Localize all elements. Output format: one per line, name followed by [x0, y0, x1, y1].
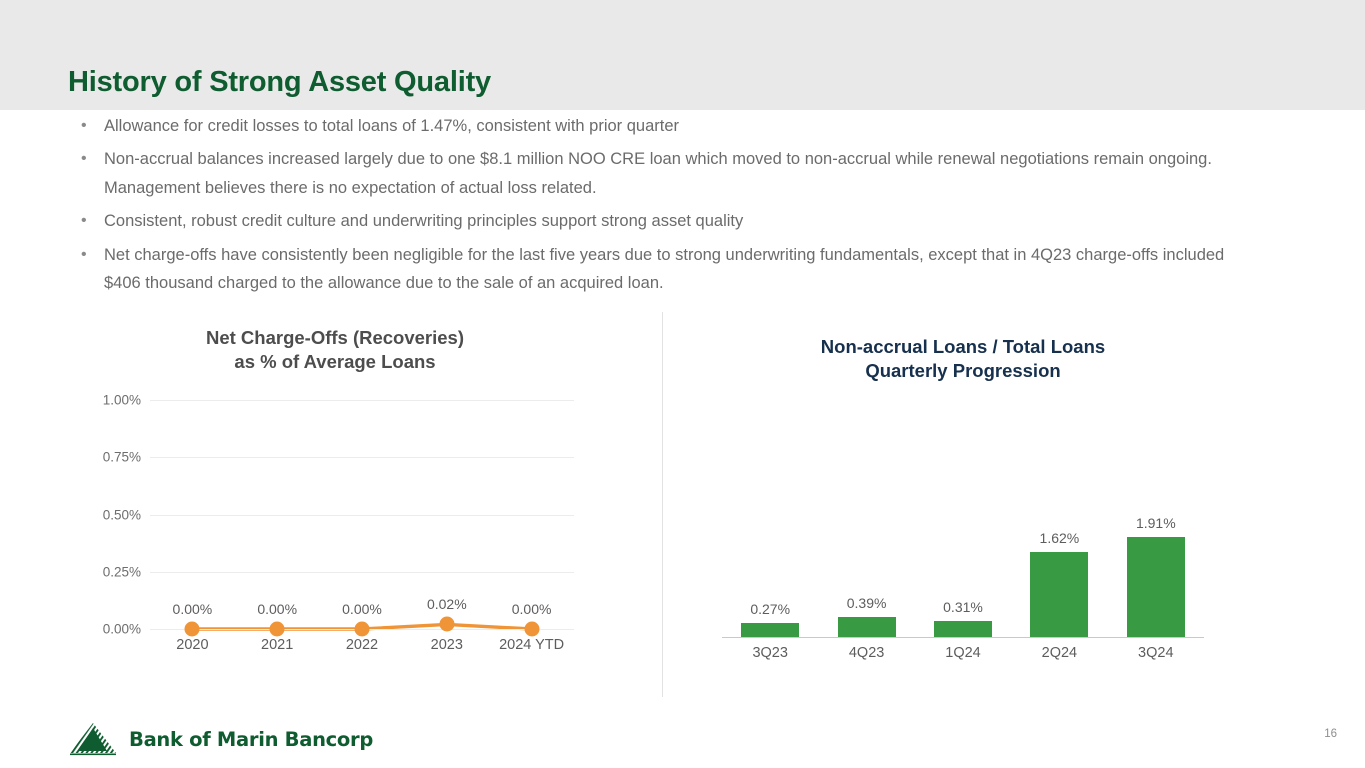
x-axis-tick-label: 1Q24: [945, 645, 980, 661]
x-axis-tick-label: 3Q23: [752, 645, 787, 661]
bar: [1127, 537, 1185, 637]
bullet-dot-icon: •: [81, 207, 87, 235]
bullet-dot-icon: •: [81, 145, 87, 173]
bullet-item: •Non-accrual balances increased largely …: [78, 145, 1228, 202]
bar-value-label: 1.62%: [1040, 530, 1080, 546]
bullet-text: Net charge-offs have consistently been n…: [104, 246, 1224, 292]
data-label: 0.00%: [257, 601, 297, 617]
x-axis-tick-label: 2023: [431, 637, 463, 653]
gridline: [150, 400, 574, 401]
mountain-triangle-icon: [68, 722, 120, 756]
y-axis-tick-label: 0.25%: [85, 564, 141, 579]
line-data-point: [270, 622, 285, 637]
x-axis-tick-label: 4Q23: [849, 645, 884, 661]
data-label: 0.00%: [342, 601, 382, 617]
page-title: History of Strong Asset Quality: [68, 66, 491, 99]
chart-divider: [662, 312, 663, 697]
non-accrual-bar-chart: 0.27%3Q230.39%4Q230.31%1Q241.62%2Q241.91…: [700, 400, 1220, 670]
bullet-item: •Consistent, robust credit culture and u…: [78, 207, 1228, 235]
bar: [741, 623, 799, 637]
data-label: 0.00%: [173, 601, 213, 617]
left-chart-title-line2: as % of Average Loans: [95, 350, 575, 374]
bullet-text: Non-accrual balances increased largely d…: [104, 150, 1212, 196]
left-chart-title: Net Charge-Offs (Recoveries) as % of Ave…: [95, 326, 575, 373]
bullet-item: •Net charge-offs have consistently been …: [78, 241, 1228, 298]
line-data-point: [185, 622, 200, 637]
bullet-dot-icon: •: [81, 112, 87, 140]
bullet-item: •Allowance for credit losses to total lo…: [78, 112, 1228, 140]
right-chart-title-line2: Quarterly Progression: [722, 359, 1204, 383]
data-label: 0.00%: [512, 601, 552, 617]
bar: [838, 617, 896, 637]
bar-value-label: 0.27%: [750, 601, 790, 617]
footer-logo-text: Bank of Marin Bancorp: [129, 728, 373, 751]
net-charge-offs-line-chart: 0.00%0.25%0.50%0.75%1.00%0.00%20200.00%2…: [85, 380, 585, 660]
bar: [934, 621, 992, 637]
bar-value-label: 0.39%: [847, 595, 887, 611]
y-axis-tick-label: 0.75%: [85, 450, 141, 465]
y-axis-tick-label: 0.50%: [85, 507, 141, 522]
footer-logo: Bank of Marin Bancorp: [68, 722, 373, 756]
bullet-text: Consistent, robust credit culture and un…: [104, 212, 743, 230]
gridline: [150, 515, 574, 516]
x-axis-tick-label: 3Q24: [1138, 645, 1173, 661]
x-axis-tick-label: 2022: [346, 637, 378, 653]
page-number: 16: [1324, 728, 1337, 740]
left-chart-title-line1: Net Charge-Offs (Recoveries): [95, 326, 575, 350]
bullet-text: Allowance for credit losses to total loa…: [104, 117, 679, 135]
x-axis-tick-label: 2020: [176, 637, 208, 653]
x-axis-tick-label: 2024 YTD: [499, 637, 564, 653]
y-axis-tick-label: 0.00%: [85, 622, 141, 637]
line-data-point: [355, 622, 370, 637]
data-label: 0.02%: [427, 596, 467, 612]
bar: [1030, 552, 1088, 637]
right-chart-title-line1: Non-accrual Loans / Total Loans: [722, 335, 1204, 359]
gridline: [150, 572, 574, 573]
x-axis-tick-label: 2Q24: [1042, 645, 1077, 661]
x-axis-tick-label: 2021: [261, 637, 293, 653]
line-chart-svg: [85, 380, 585, 660]
right-chart-title: Non-accrual Loans / Total Loans Quarterl…: [722, 335, 1204, 382]
bullet-dot-icon: •: [81, 241, 87, 269]
y-axis-tick-label: 1.00%: [85, 393, 141, 408]
gridline: [150, 457, 574, 458]
bar-value-label: 1.91%: [1136, 515, 1176, 531]
bar-chart-baseline: [722, 637, 1204, 638]
line-data-point: [439, 617, 454, 632]
bullet-list: •Allowance for credit losses to total lo…: [78, 112, 1228, 302]
line-data-point: [524, 622, 539, 637]
bar-value-label: 0.31%: [943, 599, 983, 615]
